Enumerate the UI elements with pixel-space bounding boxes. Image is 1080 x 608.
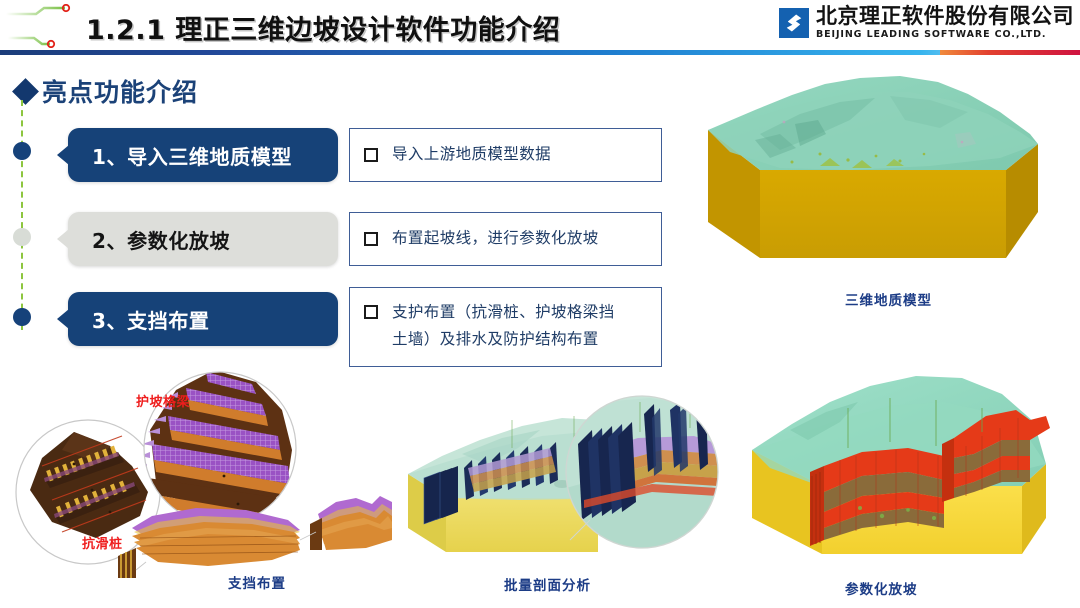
company-logo: 北京理正软件股份有限公司 BEIJING LEADING SOFTWARE CO… <box>779 6 1074 40</box>
step-label-3: 3、支挡布置 <box>92 305 210 334</box>
annotation-grid-beam: 护坡格梁 <box>136 391 190 410</box>
slide: 1.2.1 理正三维边坡设计软件功能介绍 北京理正软件股份有限公司 BEIJIN… <box>0 0 1080 608</box>
timeline-dot-2 <box>13 228 31 246</box>
step-callout-1[interactable]: 1、导入三维地质模型 <box>68 128 338 182</box>
figure-section-analysis <box>402 392 722 572</box>
square-bullet-icon <box>364 232 378 246</box>
figure-parametric-slope <box>730 368 1070 568</box>
header-decoration-icon <box>2 4 88 48</box>
callout-tail-icon <box>57 309 69 329</box>
step-description-text-3-line1: 支护布置（抗滑桩、护坡格梁挡 <box>392 303 615 321</box>
timeline-line <box>21 100 27 330</box>
square-bullet-icon <box>364 148 378 162</box>
square-bullet-icon <box>364 305 378 319</box>
figure-support-layout <box>0 370 400 578</box>
company-name-en: BEIJING LEADING SOFTWARE CO.,LTD. <box>816 30 1074 40</box>
company-name-cn: 北京理正软件股份有限公司 <box>816 6 1074 27</box>
page-title: 1.2.1 理正三维边坡设计软件功能介绍 <box>86 8 560 47</box>
section-heading-label: 亮点功能介绍 <box>42 73 198 109</box>
header-divider <box>0 49 1080 55</box>
step-description-text-2: 布置起坡线，进行参数化放坡 <box>392 225 599 252</box>
step-description-3: 支护布置（抗滑桩、护坡格梁挡 土墙）及排水及防护结构布置 <box>349 287 662 367</box>
annotation-anti-slide-pile: 抗滑桩 <box>82 533 123 552</box>
step-description-2: 布置起坡线，进行参数化放坡 <box>349 212 662 266</box>
step-description-1: 导入上游地质模型数据 <box>349 128 662 182</box>
slide-header: 1.2.1 理正三维边坡设计软件功能介绍 北京理正软件股份有限公司 BEIJIN… <box>0 0 1080 58</box>
callout-tail-icon <box>57 145 69 165</box>
figure-caption-support-layout: 支挡布置 <box>228 572 286 592</box>
step-label-1: 1、导入三维地质模型 <box>92 141 292 170</box>
step-description-text-3-line2: 土墙）及排水及防护结构布置 <box>392 330 599 348</box>
figure-geology-model <box>700 62 1070 287</box>
callout-tail-icon <box>57 229 69 249</box>
figure-caption-parametric-slope: 参数化放坡 <box>845 578 918 598</box>
section-heading: 亮点功能介绍 <box>16 73 198 109</box>
step-label-2: 2、参数化放坡 <box>92 225 230 254</box>
step-callout-2[interactable]: 2、参数化放坡 <box>68 212 338 266</box>
company-logo-mark-icon <box>779 8 809 38</box>
figure-caption-geology-model: 三维地质模型 <box>845 289 932 309</box>
step-callout-3[interactable]: 3、支挡布置 <box>68 292 338 346</box>
step-description-text-1: 导入上游地质模型数据 <box>392 141 551 168</box>
timeline-dot-3 <box>13 308 31 326</box>
timeline-dot-1 <box>13 142 31 160</box>
figure-caption-section-analysis: 批量剖面分析 <box>504 574 591 594</box>
